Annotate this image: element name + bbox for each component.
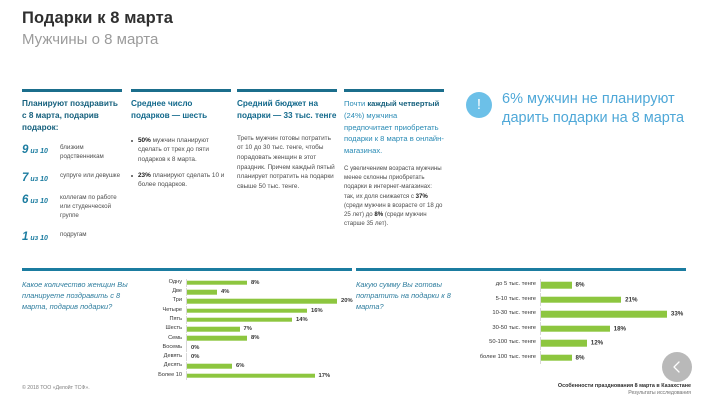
- bar-row: Одну8%: [136, 279, 352, 287]
- bar-row: Четыре16%: [136, 306, 352, 314]
- exclamation-glyph: !: [477, 97, 481, 112]
- bar-row: Семь8%: [136, 334, 352, 342]
- bar-value-label: 0%: [191, 354, 199, 360]
- bullet-text: планируют сделать 10 и более подарков.: [138, 172, 224, 189]
- bar-value-label: 12%: [591, 340, 603, 347]
- bar-value-label: 8%: [576, 354, 585, 361]
- bar-value-label: 17%: [319, 373, 331, 379]
- bar-row: 10-30 тыс. тенге33%: [462, 308, 686, 321]
- footer-meta: Особенности празднования 8 марта в Казах…: [558, 382, 691, 398]
- bar-value-label: 8%: [576, 282, 585, 289]
- bar-track: 21%: [540, 293, 686, 306]
- bar-fill: [187, 308, 307, 313]
- card-top-rule: [237, 89, 337, 92]
- bar-track: 12%: [540, 337, 686, 350]
- card-online-shopping: Почти каждый четвертый (24%) мужчина пре…: [344, 89, 444, 264]
- bar-fill: [187, 373, 315, 378]
- bar-row: Восемь0%: [136, 343, 352, 351]
- bar-category-label: Десять: [136, 363, 186, 369]
- sub-figure-2: 8%: [374, 211, 383, 218]
- chart-question: Какую сумму Вы готовы потратить на подар…: [356, 279, 462, 366]
- ratio-label: подругам: [60, 231, 87, 240]
- bar-category-label: Четыре: [136, 308, 186, 314]
- bar-track: 17%: [186, 371, 352, 379]
- bar-category-label: Девять: [136, 354, 186, 360]
- bar-value-label: 0%: [191, 345, 199, 351]
- bar-value-label: 21%: [625, 296, 637, 303]
- lead-part-1: Почти: [344, 99, 367, 108]
- ratio-denominator: из 10: [30, 198, 48, 205]
- card-sub-text: С увеличением возраста мужчины менее скл…: [344, 164, 444, 229]
- bar-track: 33%: [540, 308, 686, 321]
- list-item: 50% мужчин планируют сделать от трех до …: [131, 136, 231, 165]
- bar-row: Три20%: [136, 297, 352, 305]
- callout-text: 6% мужчин не планируют дарить подарки на…: [502, 90, 691, 128]
- bar-chart: до 5 тыс. тенге8%5-10 тыс. тенге21%10-30…: [462, 279, 686, 366]
- bar-row: 30-50 тыс. тенге18%: [462, 322, 686, 335]
- bar-fill: [187, 364, 232, 369]
- bar-value-label: 7%: [244, 326, 252, 332]
- bar-track: 8%: [186, 334, 352, 342]
- bar-fill: [541, 282, 572, 289]
- card-lead-text: Почти каждый четвертый (24%) мужчина пре…: [344, 98, 444, 157]
- list-item: 6 из 10 коллегам по работе или студенчес…: [22, 194, 122, 221]
- ratio-number: 1: [22, 231, 28, 243]
- bar-category-label: 10-30 тыс. тенге: [462, 311, 540, 317]
- bar-track: 7%: [186, 325, 352, 333]
- card-body: Треть мужчин готовы потратить от 10 до 3…: [237, 134, 337, 192]
- bar-category-label: более 100 тыс. тенге: [462, 355, 540, 361]
- ratio-number: 7: [22, 172, 28, 184]
- chart-panel-women-count: Какое количество женщин Вы планируете по…: [22, 268, 352, 376]
- stat-cards: Планируют поздравить с 8 марта, подарив …: [22, 89, 462, 264]
- card-average-gift-count: Среднее число подарков — шесть 50% мужчи…: [131, 89, 231, 264]
- page-title: Подарки к 8 марта: [22, 8, 173, 29]
- list-item: 23% планируют сделать 10 и более подарко…: [131, 171, 231, 190]
- ratio-value: 1 из 10: [22, 231, 60, 244]
- list-item: 1 из 10 подругам: [22, 231, 122, 244]
- chart-question: Какое количество женщин Вы планируете по…: [22, 279, 136, 381]
- bar-fill: [187, 336, 247, 341]
- bar-value-label: 33%: [671, 311, 683, 318]
- bar-value-label: 14%: [296, 317, 308, 323]
- bar-track: 4%: [186, 288, 352, 296]
- bar-category-label: 50-100 тыс. тенге: [462, 340, 540, 346]
- bar-value-label: 4%: [221, 289, 229, 295]
- back-button[interactable]: [662, 352, 692, 382]
- bar-track: 18%: [540, 322, 686, 335]
- ratio-value: 6 из 10: [22, 194, 60, 207]
- bar-track: 16%: [186, 306, 352, 314]
- card-top-rule: [131, 89, 231, 92]
- bar-value-label: 16%: [311, 308, 323, 314]
- bar-track: 8%: [540, 279, 686, 292]
- chart-panel-budget: Какую сумму Вы готовы потратить на подар…: [356, 268, 686, 376]
- bar-fill: [541, 354, 572, 361]
- bar-value-label: 8%: [251, 280, 259, 286]
- bar-fill: [541, 311, 667, 318]
- ratio-label: коллегам по работе или студенческой груп…: [60, 194, 122, 221]
- callout-no-gifts: ! 6% мужчин не планируют дарить подарки …: [466, 90, 691, 128]
- ratio-denominator: из 10: [30, 235, 48, 242]
- bar-fill: [187, 299, 337, 304]
- bar-category-label: Три: [136, 298, 186, 304]
- bar-value-label: 18%: [614, 325, 626, 332]
- bar-value-label: 8%: [251, 335, 259, 341]
- bar-row: Две4%: [136, 288, 352, 296]
- bar-fill: [187, 280, 247, 285]
- bar-track: 20%: [186, 297, 352, 305]
- card-gift-recipients: Планируют поздравить с 8 марта, подарив …: [22, 89, 122, 264]
- ratio-denominator: из 10: [30, 148, 48, 155]
- bar-fill: [541, 296, 621, 303]
- bar-row: Десять6%: [136, 362, 352, 370]
- card-paragraph: Треть мужчин готовы потратить от 10 до 3…: [237, 134, 337, 192]
- bar-track: 14%: [186, 316, 352, 324]
- ratio-label: близким родственникам: [60, 144, 122, 162]
- card-title: Планируют поздравить с 8 марта, подарив …: [22, 98, 122, 134]
- ratio-list: 9 из 10 близким родственникам 7 из 10 су…: [22, 144, 122, 244]
- report-subtitle: Результаты исследования: [558, 390, 691, 398]
- page-subtitle: Мужчины о 8 марта: [22, 31, 173, 50]
- ratio-number: 9: [22, 144, 28, 156]
- slide-header: Подарки к 8 марта Мужчины о 8 марта: [22, 8, 173, 49]
- bar-row: более 100 тыс. тенге8%: [462, 351, 686, 364]
- chevron-left-icon: [670, 360, 684, 374]
- card-top-rule: [22, 89, 122, 92]
- bar-track: 0%: [186, 343, 352, 351]
- lead-highlight: каждый четвертый: [367, 99, 439, 108]
- bar-category-label: 5-10 тыс. тенге: [462, 297, 540, 303]
- ratio-denominator: из 10: [30, 176, 48, 183]
- bar-track: 8%: [186, 279, 352, 287]
- ratio-value: 9 из 10: [22, 144, 60, 157]
- bar-fill: [187, 327, 240, 332]
- bar-row: Девять0%: [136, 353, 352, 361]
- copyright: © 2018 ТОО «Делойт ТСФ».: [22, 385, 90, 391]
- bar-category-label: Пять: [136, 317, 186, 323]
- infographic-slide: Подарки к 8 марта Мужчины о 8 марта План…: [0, 0, 705, 407]
- bar-category-label: Одну: [136, 280, 186, 286]
- bullet-list: 50% мужчин планируют сделать от трех до …: [131, 136, 231, 190]
- ratio-label: супруге или девушке: [60, 172, 120, 181]
- bar-chart: Одну8%Две4%Три20%Четыре16%Пять14%Шесть7%…: [136, 279, 352, 381]
- bar-fill: [541, 325, 610, 332]
- card-average-budget: Средний бюджет на подарки — 33 тыс. тенг…: [237, 89, 337, 264]
- bar-row: Более 1017%: [136, 371, 352, 379]
- bar-category-label: Шесть: [136, 326, 186, 332]
- bar-fill: [187, 290, 217, 295]
- bar-category-label: Восемь: [136, 345, 186, 351]
- ratio-number: 6: [22, 194, 28, 206]
- bar-value-label: 6%: [236, 363, 244, 369]
- bar-row: до 5 тыс. тенге8%: [462, 279, 686, 292]
- bar-track: 0%: [186, 353, 352, 361]
- report-title: Особенности празднования 8 марта в Казах…: [558, 382, 691, 390]
- bar-category-label: Семь: [136, 336, 186, 342]
- bar-row: 5-10 тыс. тенге21%: [462, 293, 686, 306]
- bar-category-label: 30-50 тыс. тенге: [462, 326, 540, 332]
- list-item: 9 из 10 близким родственникам: [22, 144, 122, 162]
- card-title: Средний бюджет на подарки — 33 тыс. тенг…: [237, 98, 337, 122]
- sub-figure-1: 37%: [416, 193, 428, 200]
- bar-row: Пять14%: [136, 316, 352, 324]
- bar-track: 6%: [186, 362, 352, 370]
- bullet-figure: 23%: [138, 172, 151, 179]
- bar-row: Шесть7%: [136, 325, 352, 333]
- bar-category-label: до 5 тыс. тенге: [462, 282, 540, 288]
- card-top-rule: [344, 89, 444, 92]
- exclamation-circle-icon: !: [466, 92, 492, 118]
- bar-category-label: Более 10: [136, 373, 186, 379]
- bullet-figure: 50%: [138, 137, 151, 144]
- bar-fill: [187, 318, 292, 323]
- bar-value-label: 20%: [341, 298, 353, 304]
- lead-part-2: (24%) мужчина предпочитает приобретать п…: [344, 111, 444, 155]
- bar-category-label: Две: [136, 289, 186, 295]
- bar-fill: [541, 340, 587, 347]
- list-item: 7 из 10 супруге или девушке: [22, 172, 122, 185]
- ratio-value: 7 из 10: [22, 172, 60, 185]
- card-title: Среднее число подарков — шесть: [131, 98, 231, 122]
- bar-row: 50-100 тыс. тенге12%: [462, 337, 686, 350]
